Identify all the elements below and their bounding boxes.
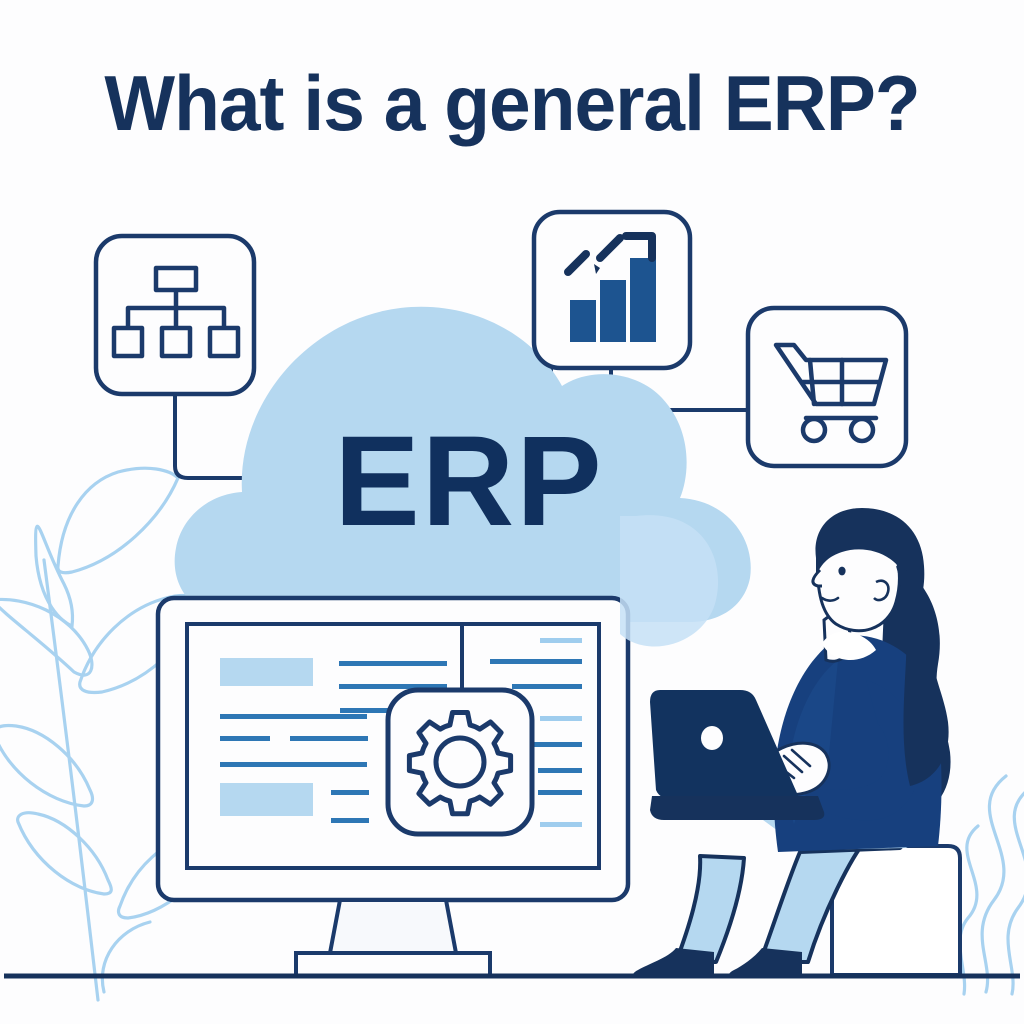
illustration-canvas: What is a general ERP? ERP [0, 0, 1024, 1024]
ground-layer [0, 0, 1024, 1024]
